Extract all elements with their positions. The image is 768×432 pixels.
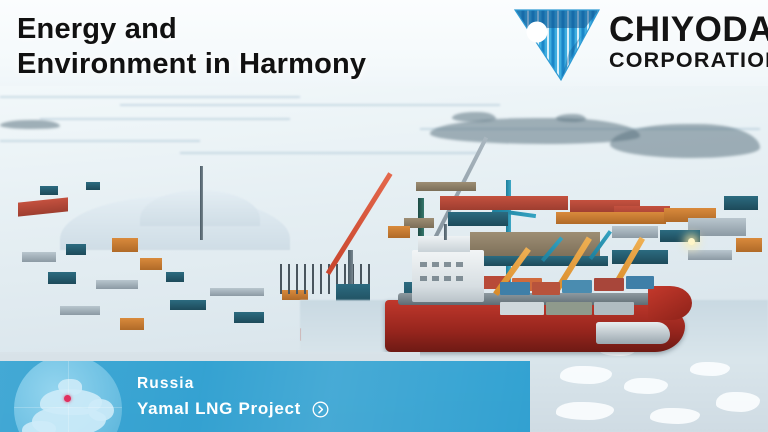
photo-building [140,258,162,270]
photo-cargo-ship-bow [648,286,692,320]
photo-ship-window [456,262,463,267]
photo-dark-ridge [430,118,640,144]
caption-project-name: Yamal LNG Project [137,399,301,419]
photo-building [120,318,144,330]
photo-ice-floe [560,366,612,384]
logo-company-name: CHIYODA [609,12,768,47]
location-marker-dot-icon [64,395,71,402]
photo-container [532,282,560,295]
photo-building [66,244,86,255]
page-title-line-2: Environment in Harmony [17,47,487,82]
photo-ship-window [432,262,439,267]
photo-building [612,226,658,238]
project-caption-bar[interactable]: Russia Yamal LNG Project [0,361,530,432]
photo-building [556,212,666,224]
photo-building [736,238,762,252]
photo-building [440,196,568,210]
photo-horizon-streak [120,104,500,106]
photo-dark-ridge [0,120,60,129]
photo-building [416,182,476,191]
photo-building [448,212,508,226]
slide-banner: Energy and Environment in Harmony [0,0,768,432]
photo-building [210,288,264,296]
photo-building [170,300,206,310]
photo-building [112,238,138,252]
photo-dark-ridge [556,114,586,122]
photo-ship-window [432,276,439,281]
photo-building [612,250,668,264]
photo-building [86,182,100,190]
photo-dark-ridge [610,124,760,158]
photo-container [546,302,592,315]
photo-horizon-streak [0,96,300,98]
circle-chevron-right-icon[interactable] [312,401,329,418]
photo-container [562,280,592,293]
photo-building [48,272,76,284]
photo-ice-floe [556,402,614,420]
photo-ice-floe [650,408,700,424]
globe-landmass [88,399,114,421]
caption-country: Russia [137,374,329,395]
photo-flare-light [688,238,695,245]
photo-container [594,278,624,291]
photo-ship-window [456,276,463,281]
photo-horizon-streak [0,140,200,142]
caption-project-row[interactable]: Yamal LNG Project [137,399,329,419]
photo-building [234,312,264,323]
photo-ice-floe [690,362,730,376]
photo-ice-floe [624,378,668,394]
photo-building [22,252,56,262]
photo-building [60,306,100,315]
chiyoda-logo-wordmark: CHIYODA CORPORATION [609,6,768,72]
photo-dark-ridge [452,112,496,122]
caption-text-block: Russia Yamal LNG Project [137,374,329,419]
photo-ship-window [420,262,427,267]
photo-building [724,196,758,210]
photo-horizon-streak [180,152,480,154]
photo-support-vessel [596,322,670,344]
photo-horizon-streak [40,118,290,120]
logo-company-suffix: CORPORATION [609,50,768,72]
photo-container [500,282,530,295]
photo-building [466,256,608,266]
photo-container [626,276,654,289]
page-title: Energy and Environment in Harmony [17,12,487,82]
photo-ship-window [420,276,427,281]
photo-mast [200,166,203,240]
chiyoda-logo[interactable]: CHIYODA CORPORATION [511,6,763,90]
page-title-line-1: Energy and [17,12,487,47]
photo-building [388,226,410,238]
globe-landmass [58,379,82,395]
photo-ship-window [444,262,451,267]
globe-location-map-icon [14,361,122,432]
photo-container [500,302,544,315]
photo-container [594,302,634,315]
photo-ship-window [444,276,451,281]
globe-landmass [22,421,56,432]
photo-building [40,186,58,195]
chiyoda-triangle-mark-icon [511,6,603,84]
photo-ice-floe [716,392,760,412]
photo-building [166,272,184,282]
photo-building [688,250,732,260]
photo-building [96,280,138,289]
photo-ship-mast [444,224,447,240]
